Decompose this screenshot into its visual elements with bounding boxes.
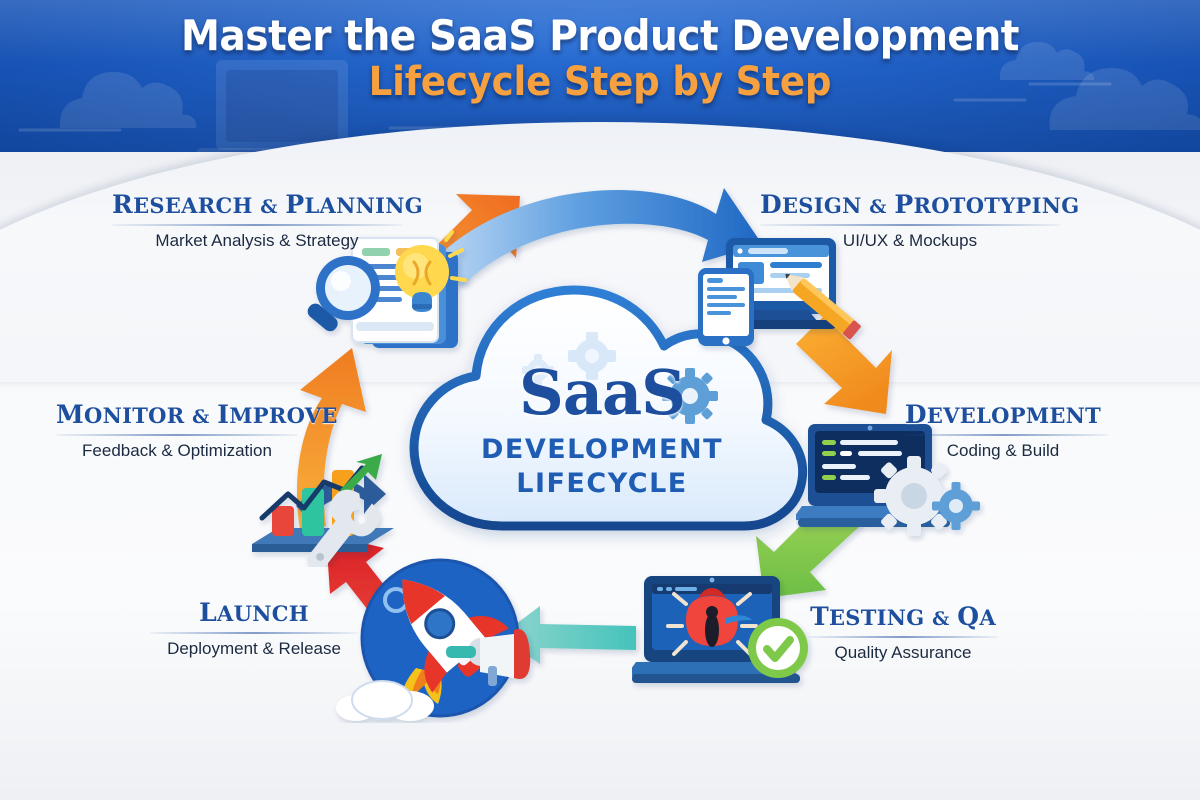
icon-launch — [330, 548, 565, 728]
divider — [808, 636, 998, 638]
divider — [150, 632, 358, 634]
step-label-research-planning[interactable]: RESEARCH & PLANNING Market Analysis & St… — [112, 192, 402, 249]
step-subtitle: Market Analysis & Strategy — [112, 232, 402, 249]
infographic-canvas: Master the SaaS Product Development Life… — [0, 0, 1200, 800]
step-label-launch[interactable]: LAUNCH Deployment & Release — [150, 600, 358, 657]
step-subtitle: UI/UX & Mockups — [760, 232, 1060, 249]
center-title-saas: SaaS — [392, 362, 812, 424]
checkmark-icon — [748, 618, 808, 678]
step-title: MONITOR & IMPROVE — [56, 402, 298, 427]
step-label-testing-qa[interactable]: TESTING & QA Quality Assurance — [808, 604, 998, 661]
step-title: TESTING & QA — [808, 604, 998, 629]
step-subtitle: Quality Assurance — [808, 644, 998, 661]
icon-testing-qa — [632, 572, 817, 699]
step-subtitle: Coding & Build — [898, 442, 1108, 459]
step-title: DESIGN & PROTOTYPING — [760, 192, 1060, 217]
center-cloud-text: SaaS DEVELOPMENT LIFECYCLE — [392, 362, 812, 497]
step-label-development[interactable]: DEVELOPMENT Coding & Build — [898, 402, 1108, 459]
step-subtitle: Feedback & Optimization — [56, 442, 298, 459]
step-subtitle: Deployment & Release — [150, 640, 358, 657]
icon-research-planning — [300, 230, 490, 370]
step-label-monitor-improve[interactable]: MONITOR & IMPROVE Feedback & Optimizatio… — [56, 402, 298, 459]
step-title: DEVELOPMENT — [898, 402, 1108, 427]
step-title: RESEARCH & PLANNING — [112, 192, 402, 217]
step-title: LAUNCH — [150, 600, 358, 625]
divider — [112, 224, 402, 226]
step-label-design-prototyping[interactable]: DESIGN & PROTOTYPING UI/UX & Mockups — [760, 192, 1060, 249]
center-title-lifecycle: LIFECYCLE — [392, 470, 812, 497]
gear-icon — [874, 456, 954, 536]
divider — [898, 434, 1108, 436]
center-title-development: DEVELOPMENT — [392, 436, 812, 463]
bar — [272, 506, 294, 536]
icon-design-prototyping — [692, 232, 867, 362]
divider — [760, 224, 1060, 226]
divider — [56, 434, 298, 436]
